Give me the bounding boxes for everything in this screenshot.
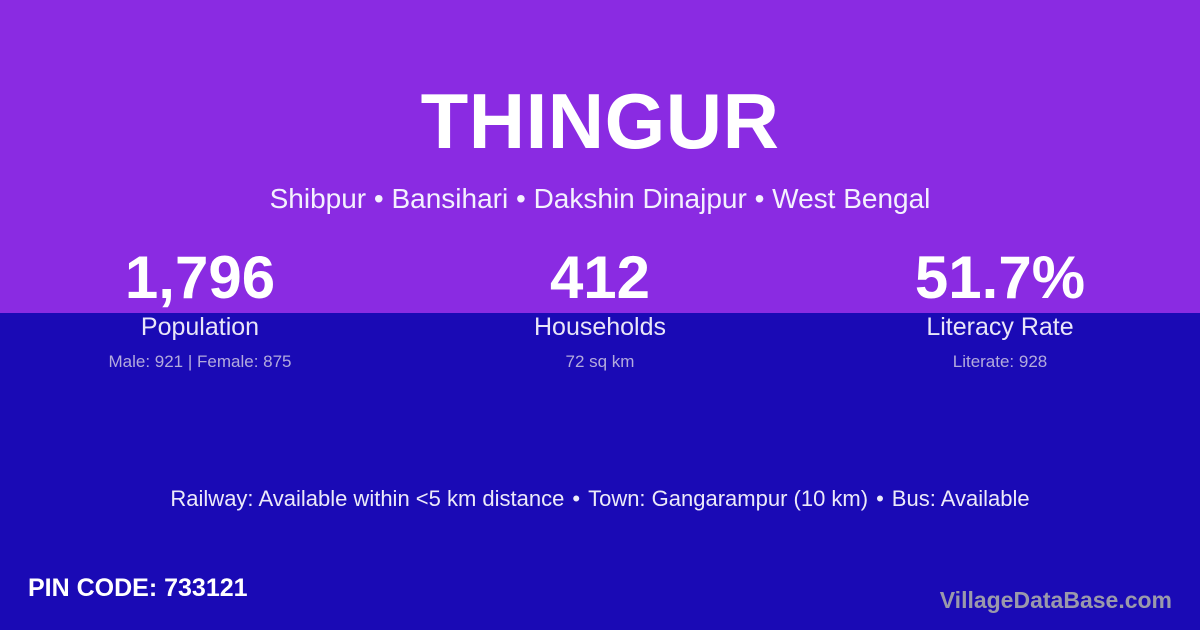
stat-subtext: Literate: 928 <box>800 353 1200 370</box>
stat-literacy-rate: 51.7% Literacy Rate Literate: 928 <box>800 248 1200 370</box>
infra-bus: Bus: Available <box>892 486 1030 511</box>
stat-households: 412 Households 72 sq km <box>400 248 800 370</box>
stat-label: Population <box>0 315 400 340</box>
stat-value: 1,796 <box>0 248 400 310</box>
infra-railway: Railway: Available within <5 km distance <box>170 486 564 511</box>
stat-subtext: Male: 921 | Female: 875 <box>0 353 400 370</box>
infrastructure-line: Railway: Available within <5 km distance… <box>0 486 1200 512</box>
stats-row: 1,796 Population Male: 921 | Female: 875… <box>0 248 1200 370</box>
infra-town: Town: Gangarampur (10 km) <box>588 486 868 511</box>
site-watermark: VillageDataBase.com <box>940 589 1172 612</box>
infra-separator: • <box>868 486 892 511</box>
village-info-card: THINGUR Shibpur • Bansihari • Dakshin Di… <box>0 0 1200 630</box>
stat-label: Literacy Rate <box>800 315 1200 340</box>
infra-separator: • <box>564 486 588 511</box>
stat-subtext: 72 sq km <box>400 353 800 370</box>
stat-population: 1,796 Population Male: 921 | Female: 875 <box>0 248 400 370</box>
stat-label: Households <box>400 315 800 340</box>
stat-value: 51.7% <box>800 248 1200 310</box>
stat-value: 412 <box>400 248 800 310</box>
pin-code: PIN CODE: 733121 <box>28 576 248 601</box>
breadcrumb: Shibpur • Bansihari • Dakshin Dinajpur •… <box>0 181 1200 217</box>
page-title: THINGUR <box>0 82 1200 160</box>
